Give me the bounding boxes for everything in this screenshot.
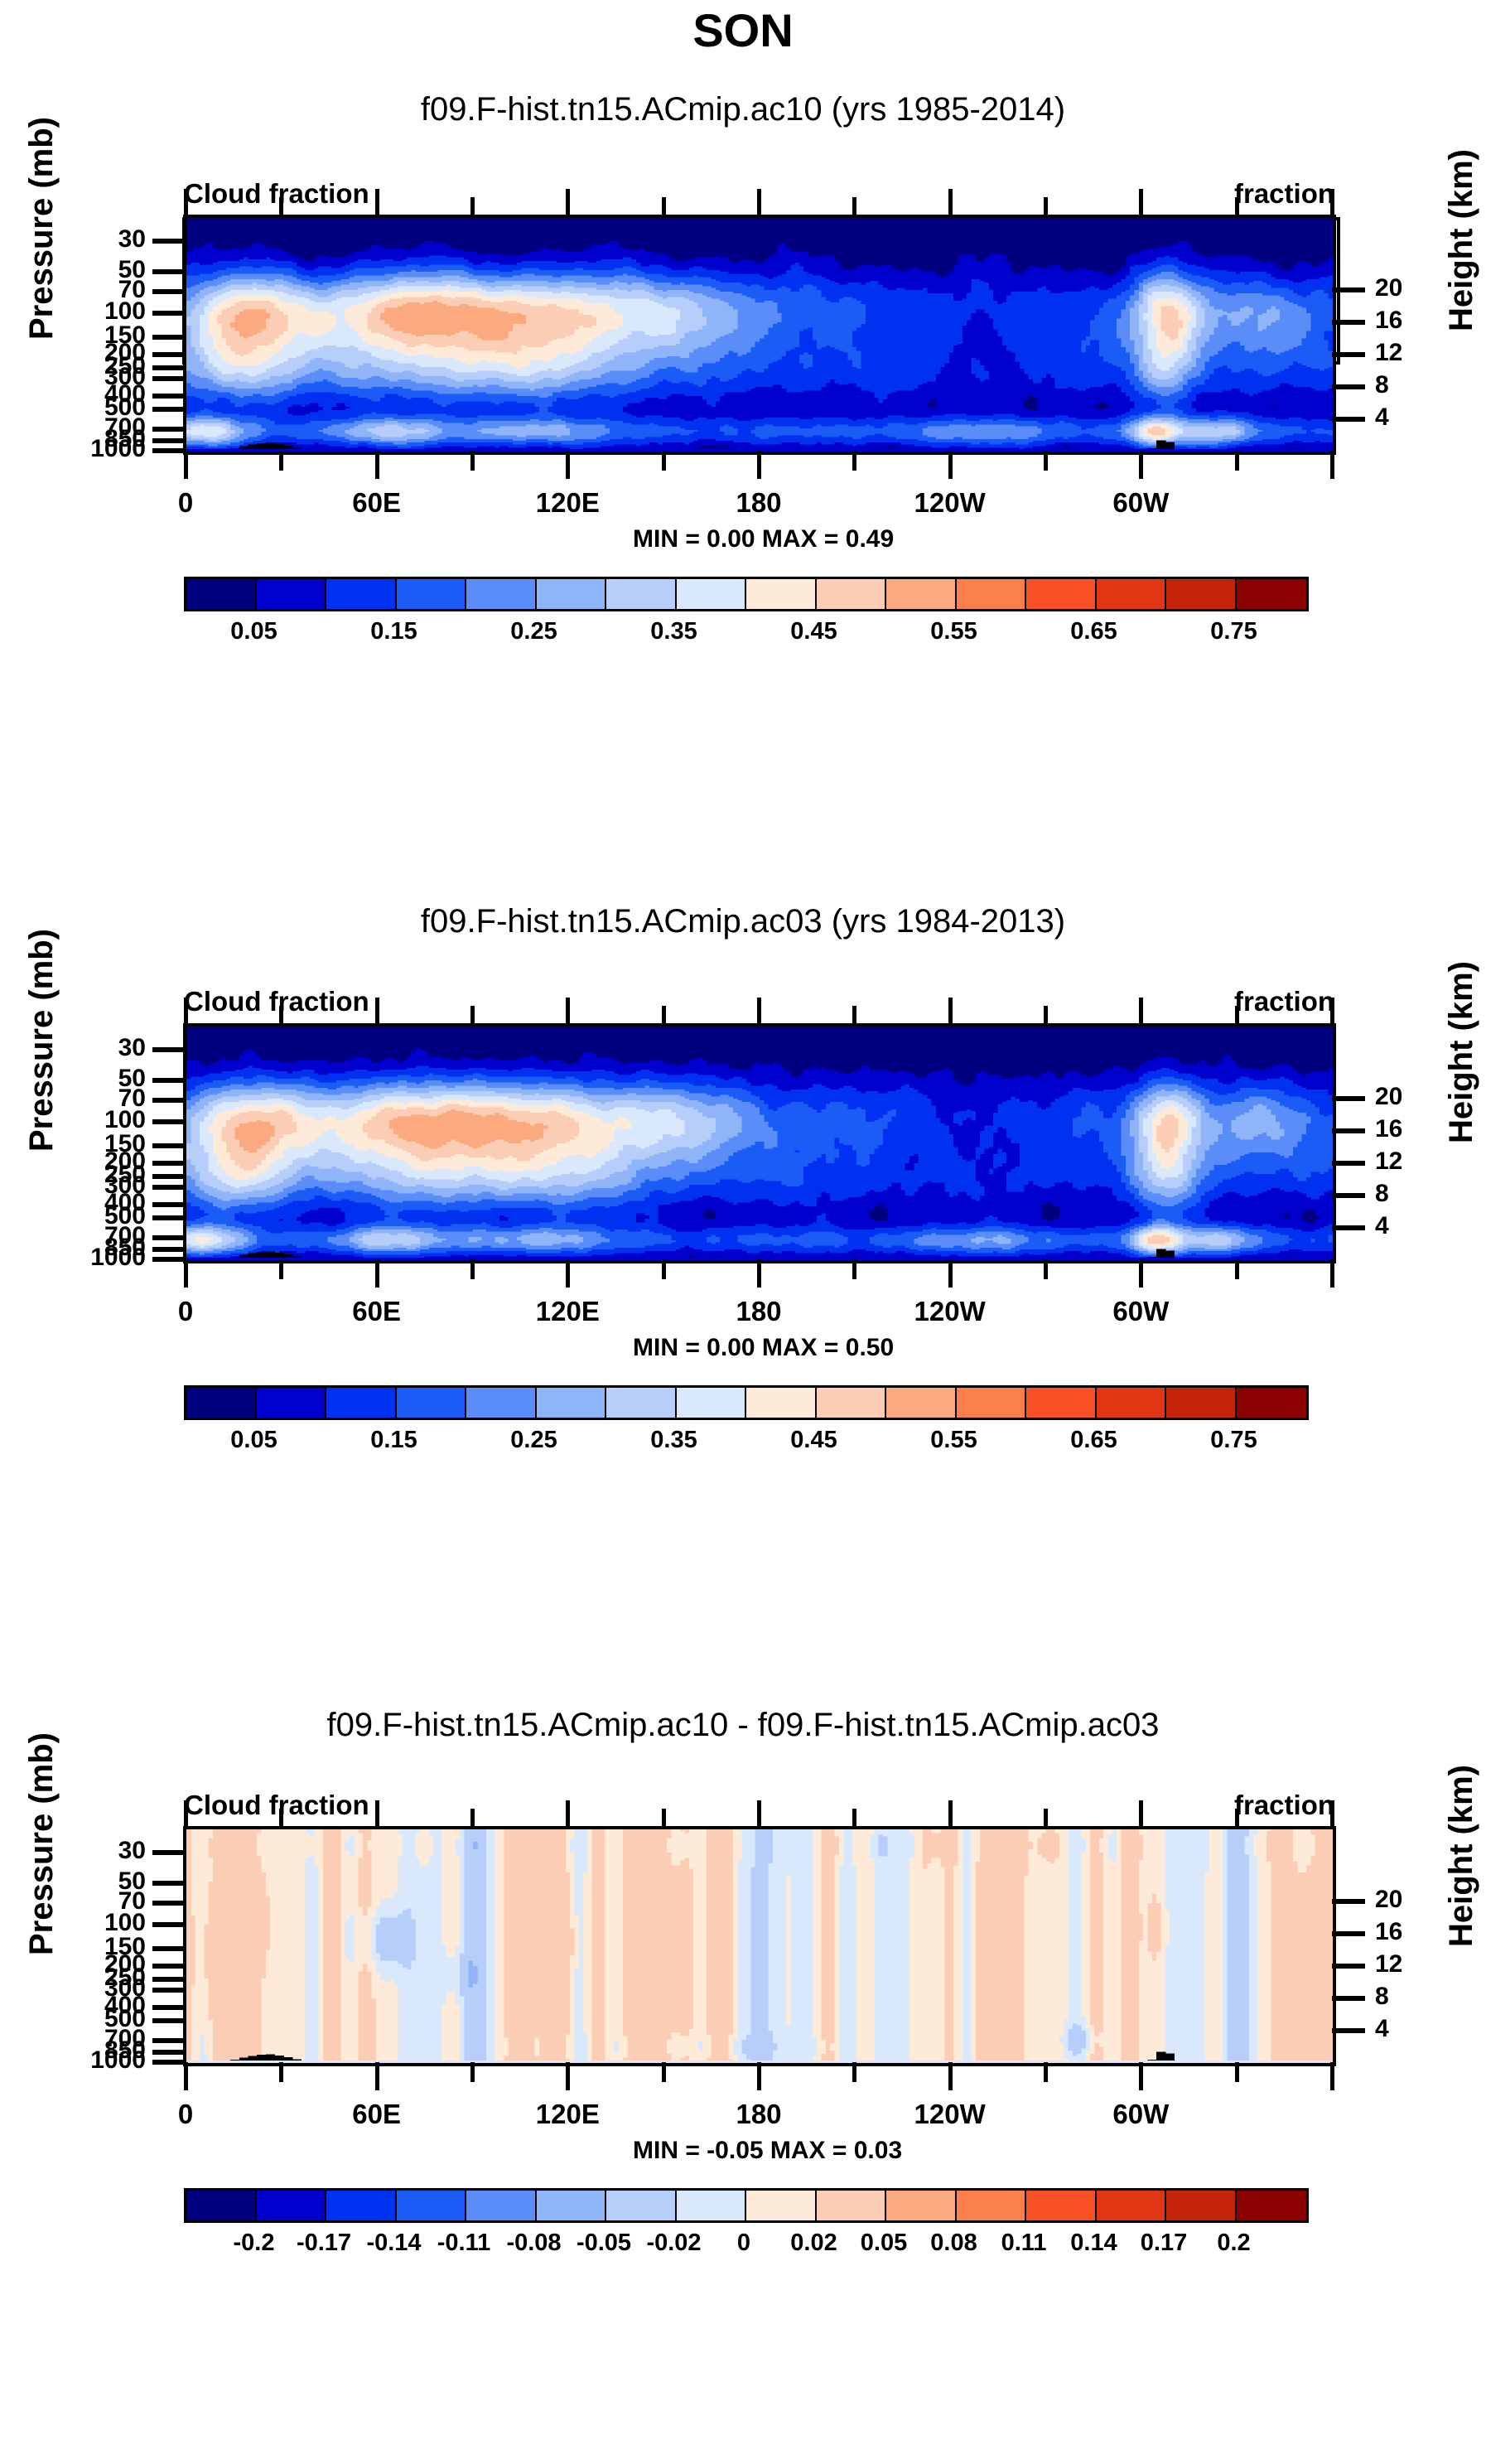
panel-2-bottom-tick-60 xyxy=(375,1259,379,1288)
panel-3-units-label: fraction xyxy=(1234,1790,1334,1821)
panel-2-ytick-mark-1000 xyxy=(152,1257,186,1262)
panel-2-xtick-label-0: 0 xyxy=(103,1296,268,1327)
panel-3-minmax: MIN = -0.05 MAX = 0.03 xyxy=(633,2137,902,2165)
panel-3-colorbar-swatch-5 xyxy=(537,2191,607,2220)
panel-3-bottom-tick-270 xyxy=(1044,2062,1048,2082)
panel-1-bottom-tick-240 xyxy=(948,451,953,479)
panel-1-height-tick-label-16: 16 xyxy=(1375,307,1474,335)
panel-2-top-tick-30 xyxy=(279,1006,283,1026)
panel-3-colorbar-swatch-9 xyxy=(817,2191,887,2220)
panel-1-colorbar-swatch-5 xyxy=(537,579,607,609)
panel-3-bottom-tick-300 xyxy=(1139,2062,1143,2090)
panel-2-height-tick-mark-8 xyxy=(1332,1193,1365,1198)
panel-1-ytick-mark-70 xyxy=(152,289,186,294)
panel-3-bottom-tick-360 xyxy=(1330,2062,1334,2090)
panel-2-colorbar-swatch-6 xyxy=(606,1388,677,1418)
panel-2-height-tick-label-16: 16 xyxy=(1375,1115,1474,1143)
panel-1-top-tick-300 xyxy=(1139,189,1143,217)
panel-3-top-tick-120 xyxy=(566,1800,570,1829)
panel-1-top-tick-0 xyxy=(184,189,188,217)
panel-2-ytick-mark-100 xyxy=(152,1119,186,1124)
panel-1-top-tick-270 xyxy=(1044,197,1048,217)
panel-1-colorbar-swatch-10 xyxy=(886,579,957,609)
panel-2-colorbar-swatch-3 xyxy=(397,1388,467,1418)
panel-1-colorbar-swatch-8 xyxy=(746,579,817,609)
panel-3-ytick-mark-300 xyxy=(152,1988,186,1993)
panel-3-top-tick-330 xyxy=(1235,1809,1239,1829)
panel-3-bottom-tick-0 xyxy=(184,2062,188,2090)
panel-2-top-tick-90 xyxy=(470,1006,475,1026)
panel-1-colorbar[interactable] xyxy=(184,577,1309,611)
panel-2-top-tick-0 xyxy=(184,998,188,1026)
panel-3-colorbar-swatch-10 xyxy=(886,2191,957,2220)
panel-3-ytick-label-1000: 1000 xyxy=(30,2046,146,2075)
panel-2-variable-label: Cloud fraction xyxy=(184,986,369,1017)
panel-2-top-tick-60 xyxy=(375,998,379,1026)
panel-1-ytick-mark-850 xyxy=(152,438,186,443)
panel-1-colorbar-swatch-12 xyxy=(1026,579,1097,609)
panel-3-top-tick-0 xyxy=(184,1800,188,1829)
panel-1-ytick-mark-300 xyxy=(152,376,186,381)
panel-2-bottom-tick-180 xyxy=(757,1259,761,1288)
panel-1-bottom-tick-300 xyxy=(1139,451,1143,479)
panel-2-colorbar-swatch-11 xyxy=(957,1388,1027,1418)
panel-1-top-tick-180 xyxy=(757,189,761,217)
panel-3-bottom-tick-90 xyxy=(470,2062,475,2082)
panel-3-top-tick-210 xyxy=(852,1809,856,1829)
panel-2-colorbar-label-0.35: 0.35 xyxy=(600,1427,749,1454)
panel-3-colorbar-swatch-12 xyxy=(1026,2191,1097,2220)
panel-3-title: f09.F-hist.tn15.ACmip.ac10 - f09.F-hist.… xyxy=(0,1707,1486,1744)
panel-3-height-tick-mark-20 xyxy=(1332,1899,1365,1904)
panel-2-bottom-tick-240 xyxy=(948,1259,953,1288)
panel-1-xtick-label-120W: 120W xyxy=(867,487,1033,519)
panel-2-colorbar[interactable] xyxy=(184,1385,1309,1420)
panel-2-bottom-tick-90 xyxy=(470,1259,475,1279)
panel-1-colorbar-label-0.25: 0.25 xyxy=(460,618,609,645)
panel-3-top-tick-360 xyxy=(1330,1800,1334,1829)
panel-2-ytick-mark-500 xyxy=(152,1215,186,1220)
panel-2-colorbar-label-0.75: 0.75 xyxy=(1160,1427,1309,1454)
panel-2-top-tick-210 xyxy=(852,1006,856,1026)
panel-1-colorbar-swatch-7 xyxy=(677,579,747,609)
panel-1-colorbar-swatch-15 xyxy=(1237,579,1307,609)
panel-1-top-tick-330 xyxy=(1235,197,1239,217)
panel-3-ytick-mark-700 xyxy=(152,2038,186,2043)
panel-1-colorbar-swatch-6 xyxy=(606,579,677,609)
panel-2-bottom-tick-120 xyxy=(566,1259,570,1288)
panel-1-colorbar-swatch-14 xyxy=(1166,579,1237,609)
panel-2-colorbar-label-0.15: 0.15 xyxy=(320,1427,469,1454)
panel-1-bottom-tick-60 xyxy=(375,451,379,479)
panel-3-top-tick-300 xyxy=(1139,1800,1143,1829)
panel-1-height-tick-mark-4 xyxy=(1332,417,1365,422)
panel-1-top-tick-150 xyxy=(662,197,666,217)
panel-3-bottom-tick-180 xyxy=(757,2062,761,2090)
panel-1-height-tick-label-4: 4 xyxy=(1375,403,1474,432)
panel-1-ytick-label-30: 30 xyxy=(30,225,146,254)
panel-1-ytick-mark-30 xyxy=(152,239,186,244)
panel-2-colorbar-swatch-0 xyxy=(186,1388,257,1418)
panel-3-colorbar-swatch-14 xyxy=(1166,2191,1237,2220)
panel-2-ytick-label-30: 30 xyxy=(30,1034,146,1062)
panel-2-ytick-label-1000: 1000 xyxy=(30,1244,146,1272)
panel-1-ytick-mark-100 xyxy=(152,311,186,316)
panel-1-ytick-mark-1000 xyxy=(152,448,186,453)
panel-2-top-tick-120 xyxy=(566,998,570,1026)
panel-1-bottom-tick-330 xyxy=(1235,451,1239,471)
panel-1-colorbar-swatch-13 xyxy=(1097,579,1167,609)
panel-2-bottom-tick-300 xyxy=(1139,1259,1143,1288)
panel-3-height-tick-label-8: 8 xyxy=(1375,1983,1474,2011)
panel-1-height-tick-mark-16 xyxy=(1332,320,1365,325)
panel-3-top-tick-180 xyxy=(757,1800,761,1829)
panel-2-xtick-label-120E: 120E xyxy=(485,1296,650,1327)
panel-2-colorbar-swatch-8 xyxy=(746,1388,817,1418)
panel-1-ytick-mark-50 xyxy=(152,269,186,274)
panel-1-bottom-tick-30 xyxy=(279,451,283,471)
panel-1-colorbar-label-0.65: 0.65 xyxy=(1020,618,1169,645)
panel-1-ytick-mark-200 xyxy=(152,352,186,357)
panel-1-ytick-label-1000: 1000 xyxy=(30,435,146,463)
panel-3-height-tick-label-20: 20 xyxy=(1375,1886,1474,1914)
panel-2-ytick-mark-150 xyxy=(152,1143,186,1148)
panel-3-ytick-mark-400 xyxy=(152,2005,186,2010)
panel-2-colorbar-label-0.65: 0.65 xyxy=(1020,1427,1169,1454)
panel-2-height-tick-label-4: 4 xyxy=(1375,1212,1474,1240)
panel-1-height-tick-mark-12 xyxy=(1332,352,1365,357)
panel-2-height-tick-label-20: 20 xyxy=(1375,1083,1474,1111)
panel-2-units-label: fraction xyxy=(1234,986,1334,1017)
panel-1-bottom-tick-120 xyxy=(566,451,570,479)
panel-2-bottom-tick-330 xyxy=(1235,1259,1239,1279)
panel-3-height-tick-mark-4 xyxy=(1332,2028,1365,2033)
panel-2-ytick-mark-70 xyxy=(152,1098,186,1103)
panel-1-colorbar-label-0.75: 0.75 xyxy=(1160,618,1309,645)
panel-3-colorbar[interactable] xyxy=(184,2188,1309,2223)
panel-3-colorbar-swatch-11 xyxy=(957,2191,1027,2220)
panel-1-top-tick-90 xyxy=(470,197,475,217)
panel-2-xtick-label-120W: 120W xyxy=(867,1296,1033,1327)
panel-3-height-tick-mark-8 xyxy=(1332,1996,1365,2001)
panel-1-bottom-tick-0 xyxy=(184,451,188,479)
panel-3-ytick-mark-500 xyxy=(152,2018,186,2023)
panel-2-ytick-mark-200 xyxy=(152,1161,186,1166)
panel-1-top-tick-360 xyxy=(1330,189,1334,217)
panel-2-colorbar-swatch-15 xyxy=(1237,1388,1307,1418)
panel-1-colorbar-swatch-0 xyxy=(186,579,257,609)
panel-2-ytick-mark-850 xyxy=(152,1247,186,1252)
panel-3-top-tick-60 xyxy=(375,1800,379,1829)
panel-2-bottom-tick-150 xyxy=(662,1259,666,1279)
panel-2-height-tick-mark-12 xyxy=(1332,1161,1365,1166)
panel-3-colorbar-swatch-0 xyxy=(186,2191,257,2220)
panel-2-bottom-tick-30 xyxy=(279,1259,283,1279)
panel-2-colorbar-swatch-2 xyxy=(326,1388,397,1418)
panel-3-xtick-label-60E: 60E xyxy=(294,2099,460,2130)
panel-3-variable-label: Cloud fraction xyxy=(184,1790,369,1821)
panel-2-bottom-tick-270 xyxy=(1044,1259,1048,1279)
panel-3-top-tick-270 xyxy=(1044,1809,1048,1829)
panel-3-xtick-label-180: 180 xyxy=(676,2099,842,2130)
panel-1-xtick-label-0: 0 xyxy=(103,487,268,519)
panel-3-xtick-label-120E: 120E xyxy=(485,2099,650,2130)
panel-2-bottom-tick-360 xyxy=(1330,1259,1334,1288)
panel-1-bottom-tick-270 xyxy=(1044,451,1048,471)
panel-3-ytick-mark-150 xyxy=(152,1946,186,1951)
panel-2-xtick-label-180: 180 xyxy=(676,1296,842,1327)
panel-2-colorbar-swatch-14 xyxy=(1166,1388,1237,1418)
panel-1-top-tick-240 xyxy=(948,189,953,217)
panel-3-height-tick-label-12: 12 xyxy=(1375,1950,1474,1978)
panel-1-height-tick-mark-8 xyxy=(1332,384,1365,389)
panel-2-ytick-mark-700 xyxy=(152,1235,186,1240)
panel-3-bottom-tick-240 xyxy=(948,2062,953,2090)
panel-3-bottom-tick-330 xyxy=(1235,2062,1239,2082)
panel-2-colorbar-swatch-12 xyxy=(1026,1388,1097,1418)
panel-2-colorbar-label-0.45: 0.45 xyxy=(740,1427,889,1454)
panel-2-top-tick-240 xyxy=(948,998,953,1026)
panel-2-height-tick-mark-20 xyxy=(1332,1096,1365,1101)
panel-1-colorbar-swatch-11 xyxy=(957,579,1027,609)
panel-1-units-label: fraction xyxy=(1234,178,1334,210)
panel-2-xtick-label-60W: 60W xyxy=(1058,1296,1223,1327)
panel-1-ytick-mark-250 xyxy=(152,365,186,370)
panel-1-xtick-label-180: 180 xyxy=(676,487,842,519)
panel-2-minmax: MIN = 0.00 MAX = 0.50 xyxy=(633,1334,894,1362)
panel-2-ytick-mark-50 xyxy=(152,1078,186,1083)
panel-2-colorbar-swatch-7 xyxy=(677,1388,747,1418)
panel-2-colorbar-label-0.05: 0.05 xyxy=(180,1427,329,1454)
panel-3-plot-area[interactable] xyxy=(183,1826,1336,2066)
panel-2-top-tick-180 xyxy=(757,998,761,1026)
panel-3-ytick-mark-100 xyxy=(152,1922,186,1927)
panel-3-xtick-label-0: 0 xyxy=(103,2099,268,2130)
panel-3-ytick-mark-30 xyxy=(152,1850,186,1855)
panel-3-colorbar-swatch-2 xyxy=(326,2191,397,2220)
panel-3-bottom-tick-210 xyxy=(852,2062,856,2082)
panel-1-top-tick-120 xyxy=(566,189,570,217)
panel-1-ytick-mark-150 xyxy=(152,335,186,340)
panel-1-top-tick-210 xyxy=(852,197,856,217)
panel-3-bottom-tick-30 xyxy=(279,2062,283,2082)
panel-3-ytick-mark-50 xyxy=(152,1881,186,1886)
panel-1-ylabel-right: Height (km) xyxy=(1443,149,1480,331)
panel-1-bottom-tick-360 xyxy=(1330,451,1334,479)
panel-1-colorbar-swatch-2 xyxy=(326,579,397,609)
panel-1-ytick-mark-700 xyxy=(152,427,186,432)
panel-1-xtick-label-120E: 120E xyxy=(485,487,650,519)
panel-1-top-tick-30 xyxy=(279,197,283,217)
panel-2-bottom-tick-210 xyxy=(852,1259,856,1279)
panel-2-colorbar-label-0.55: 0.55 xyxy=(880,1427,1029,1454)
panel-1-minmax: MIN = 0.00 MAX = 0.49 xyxy=(633,525,894,553)
panel-3-bottom-tick-120 xyxy=(566,2062,570,2090)
panel-3-top-tick-90 xyxy=(470,1809,475,1829)
panel-2-colorbar-swatch-5 xyxy=(537,1388,607,1418)
panel-3-top-tick-240 xyxy=(948,1800,953,1829)
panel-2-colorbar-label-0.25: 0.25 xyxy=(460,1427,609,1454)
panel-3-colorbar-swatch-1 xyxy=(257,2191,327,2220)
panel-3-height-tick-mark-16 xyxy=(1332,1931,1365,1936)
panel-3-colorbar-swatch-13 xyxy=(1097,2191,1167,2220)
panel-3-bottom-tick-60 xyxy=(375,2062,379,2090)
panel-3-bottom-tick-150 xyxy=(662,2062,666,2082)
panel-3-top-tick-150 xyxy=(662,1809,666,1829)
panel-1-colorbar-swatch-4 xyxy=(466,579,537,609)
panel-1-xtick-label-60W: 60W xyxy=(1058,487,1223,519)
panel-3-colorbar-swatch-4 xyxy=(466,2191,537,2220)
panel-1-bottom-tick-90 xyxy=(470,451,475,471)
panel-2-title: f09.F-hist.tn15.ACmip.ac03 (yrs 1984-201… xyxy=(0,903,1486,940)
panel-1-height-tick-label-12: 12 xyxy=(1375,339,1474,367)
panel-2-top-tick-150 xyxy=(662,1006,666,1026)
panel-1-xtick-label-60E: 60E xyxy=(294,487,460,519)
panel-1-colorbar-swatch-9 xyxy=(817,579,887,609)
panel-3-colorbar-swatch-3 xyxy=(397,2191,467,2220)
panel-3-ytick-mark-200 xyxy=(152,1964,186,1969)
panel-3-ytick-mark-850 xyxy=(152,2050,186,2055)
panel-1-bottom-tick-150 xyxy=(662,451,666,471)
panel-3-ytick-mark-70 xyxy=(152,1901,186,1906)
panel-2-colorbar-swatch-9 xyxy=(817,1388,887,1418)
panel-1-colorbar-label-0.05: 0.05 xyxy=(180,618,329,645)
panel-2-colorbar-swatch-10 xyxy=(886,1388,957,1418)
panel-2-top-tick-270 xyxy=(1044,1006,1048,1026)
panel-3-height-tick-label-16: 16 xyxy=(1375,1918,1474,1946)
panel-1-colorbar-label-0.15: 0.15 xyxy=(320,618,469,645)
panel-2-ytick-mark-30 xyxy=(152,1047,186,1052)
season-title: SON xyxy=(0,3,1486,57)
panel-1-height-tick-label-8: 8 xyxy=(1375,371,1474,399)
panel-1-height-tick-label-20: 20 xyxy=(1375,274,1474,302)
panel-2-top-tick-330 xyxy=(1235,1006,1239,1026)
panel-1-ytick-mark-400 xyxy=(152,394,186,399)
panel-3-xtick-label-120W: 120W xyxy=(867,2099,1033,2130)
panel-2-height-tick-mark-4 xyxy=(1332,1225,1365,1230)
panel-2-plot-area[interactable] xyxy=(183,1023,1336,1263)
panel-2-colorbar-swatch-4 xyxy=(466,1388,537,1418)
panel-3-colorbar-swatch-6 xyxy=(606,2191,677,2220)
panel-2-colorbar-swatch-1 xyxy=(257,1388,327,1418)
panel-3-colorbar-swatch-8 xyxy=(746,2191,817,2220)
panel-1-height-tick-mark-20 xyxy=(1332,287,1365,292)
panel-3-ytick-label-30: 30 xyxy=(30,1837,146,1865)
panel-2-xtick-label-60E: 60E xyxy=(294,1296,460,1327)
panel-1-title: f09.F-hist.tn15.ACmip.ac10 (yrs 1985-201… xyxy=(0,91,1486,128)
panel-3-colorbar-swatch-7 xyxy=(677,2191,747,2220)
panel-3-colorbar-label-0.2: 0.2 xyxy=(1160,2230,1309,2257)
panel-1-bottom-tick-210 xyxy=(852,451,856,471)
panel-1-colorbar-swatch-3 xyxy=(397,579,467,609)
panel-1-bottom-tick-180 xyxy=(757,451,761,479)
panel-2-bottom-tick-0 xyxy=(184,1259,188,1288)
panel-3-ytick-mark-250 xyxy=(152,1977,186,1982)
figure-page: SON f09.F-hist.tn15.ACmip.ac10 (yrs 1985… xyxy=(0,0,1486,2464)
panel-1-colorbar-label-0.35: 0.35 xyxy=(600,618,749,645)
panel-2-height-tick-mark-16 xyxy=(1332,1128,1365,1133)
panel-3-ytick-mark-1000 xyxy=(152,2060,186,2065)
panel-2-ytick-mark-400 xyxy=(152,1202,186,1207)
panel-1-variable-label: Cloud fraction xyxy=(184,178,369,210)
panel-1-plot-area[interactable] xyxy=(183,215,1336,455)
panel-1-colorbar-label-0.45: 0.45 xyxy=(740,618,889,645)
panel-1-top-tick-60 xyxy=(375,189,379,217)
panel-2-colorbar-swatch-13 xyxy=(1097,1388,1167,1418)
panel-2-top-tick-360 xyxy=(1330,998,1334,1026)
panel-3-height-tick-label-4: 4 xyxy=(1375,2015,1474,2043)
panel-3-top-tick-30 xyxy=(279,1809,283,1829)
panel-1-ytick-mark-500 xyxy=(152,407,186,412)
panel-2-height-tick-label-12: 12 xyxy=(1375,1147,1474,1176)
panel-2-ytick-mark-300 xyxy=(152,1185,186,1190)
panel-2-top-tick-300 xyxy=(1139,998,1143,1026)
panel-1-colorbar-label-0.55: 0.55 xyxy=(880,618,1029,645)
panel-2-height-tick-label-8: 8 xyxy=(1375,1180,1474,1208)
panel-3-colorbar-swatch-15 xyxy=(1237,2191,1307,2220)
panel-3-xtick-label-60W: 60W xyxy=(1058,2099,1223,2130)
panel-1-colorbar-swatch-1 xyxy=(257,579,327,609)
panel-3-height-tick-mark-12 xyxy=(1332,1964,1365,1969)
panel-2-ytick-mark-250 xyxy=(152,1174,186,1179)
